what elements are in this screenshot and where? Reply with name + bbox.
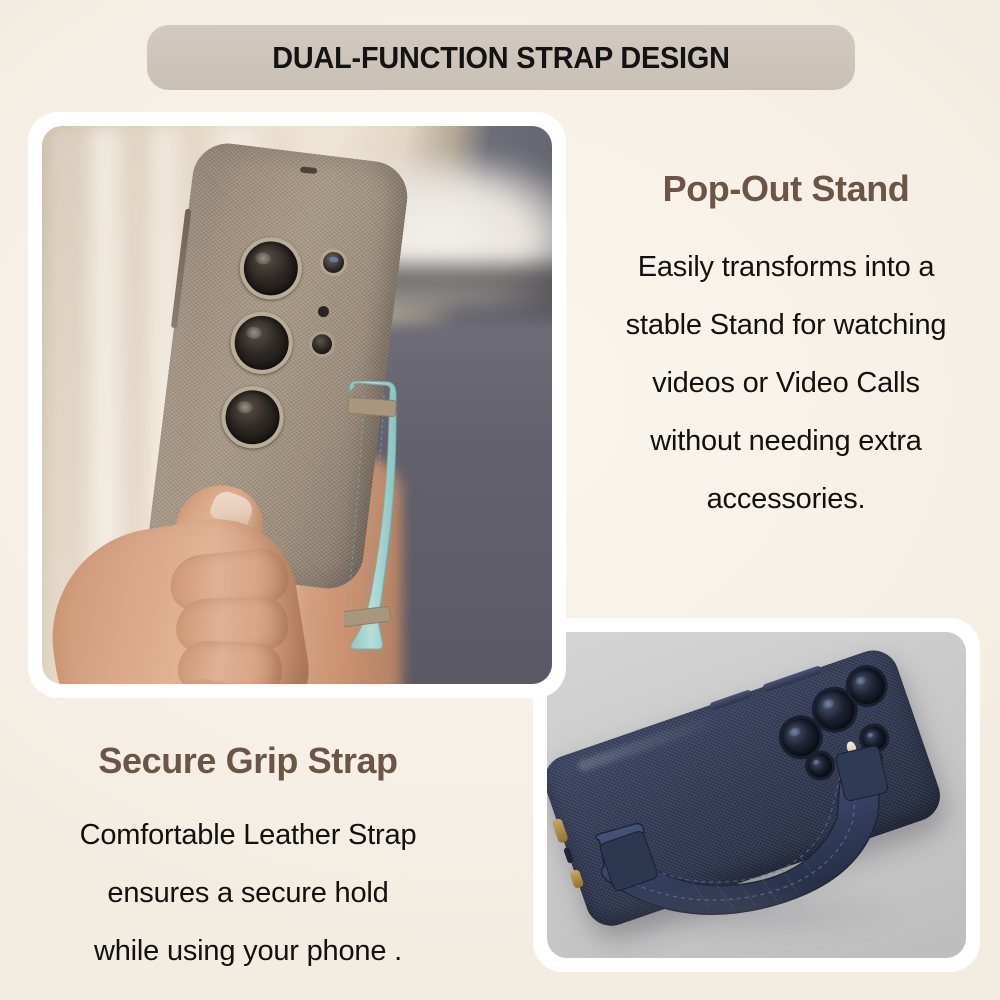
camera-lens-group [216,234,305,465]
feature-body-line: while using your phone . [28,922,468,980]
camera-lens [236,234,305,303]
feature-body-line: stable Stand for watching [586,296,986,354]
ring-finger [177,639,283,684]
case-shadow [577,882,907,942]
strap-keeper [348,397,397,416]
feature-body-line: videos or Video Calls [586,354,986,412]
case-microphone [300,167,317,174]
photo-hand-holding-case [28,112,566,698]
camera-sensor [307,330,336,359]
photo-navy-case-stand-image [547,632,966,958]
feature-heading-secure-grip-strap: Secure Grip Strap [48,740,448,782]
photo-hand-holding-case-image [42,126,552,684]
page-title: DUAL-FUNCTION STRAP DESIGN [272,40,730,76]
infographic-page: DUAL-FUNCTION STRAP DESIGN [0,0,1000,1000]
feature-body-line: without needing extra [586,412,986,470]
feature-body-line: ensures a secure hold [28,864,468,922]
photo-navy-case-stand [533,618,980,972]
camera-sensor [317,306,329,318]
feature-body-pop-out-stand: Easily transforms into a stable Stand fo… [586,238,986,528]
volume-button [709,689,753,711]
feature-body-line: accessories. [586,470,986,528]
case-highlight [577,713,723,773]
camera-lens [218,383,287,452]
header-banner: DUAL-FUNCTION STRAP DESIGN [147,25,855,90]
camera-lens [227,308,296,377]
hand [52,456,352,684]
feature-body-line: Easily transforms into a [586,238,986,296]
camera-flash [318,247,348,277]
feature-body-line: Comfortable Leather Strap [28,806,468,864]
feature-body-secure-grip-strap: Comfortable Leather Strap ensures a secu… [28,806,468,980]
feature-heading-pop-out-stand: Pop-Out Stand [586,168,986,210]
